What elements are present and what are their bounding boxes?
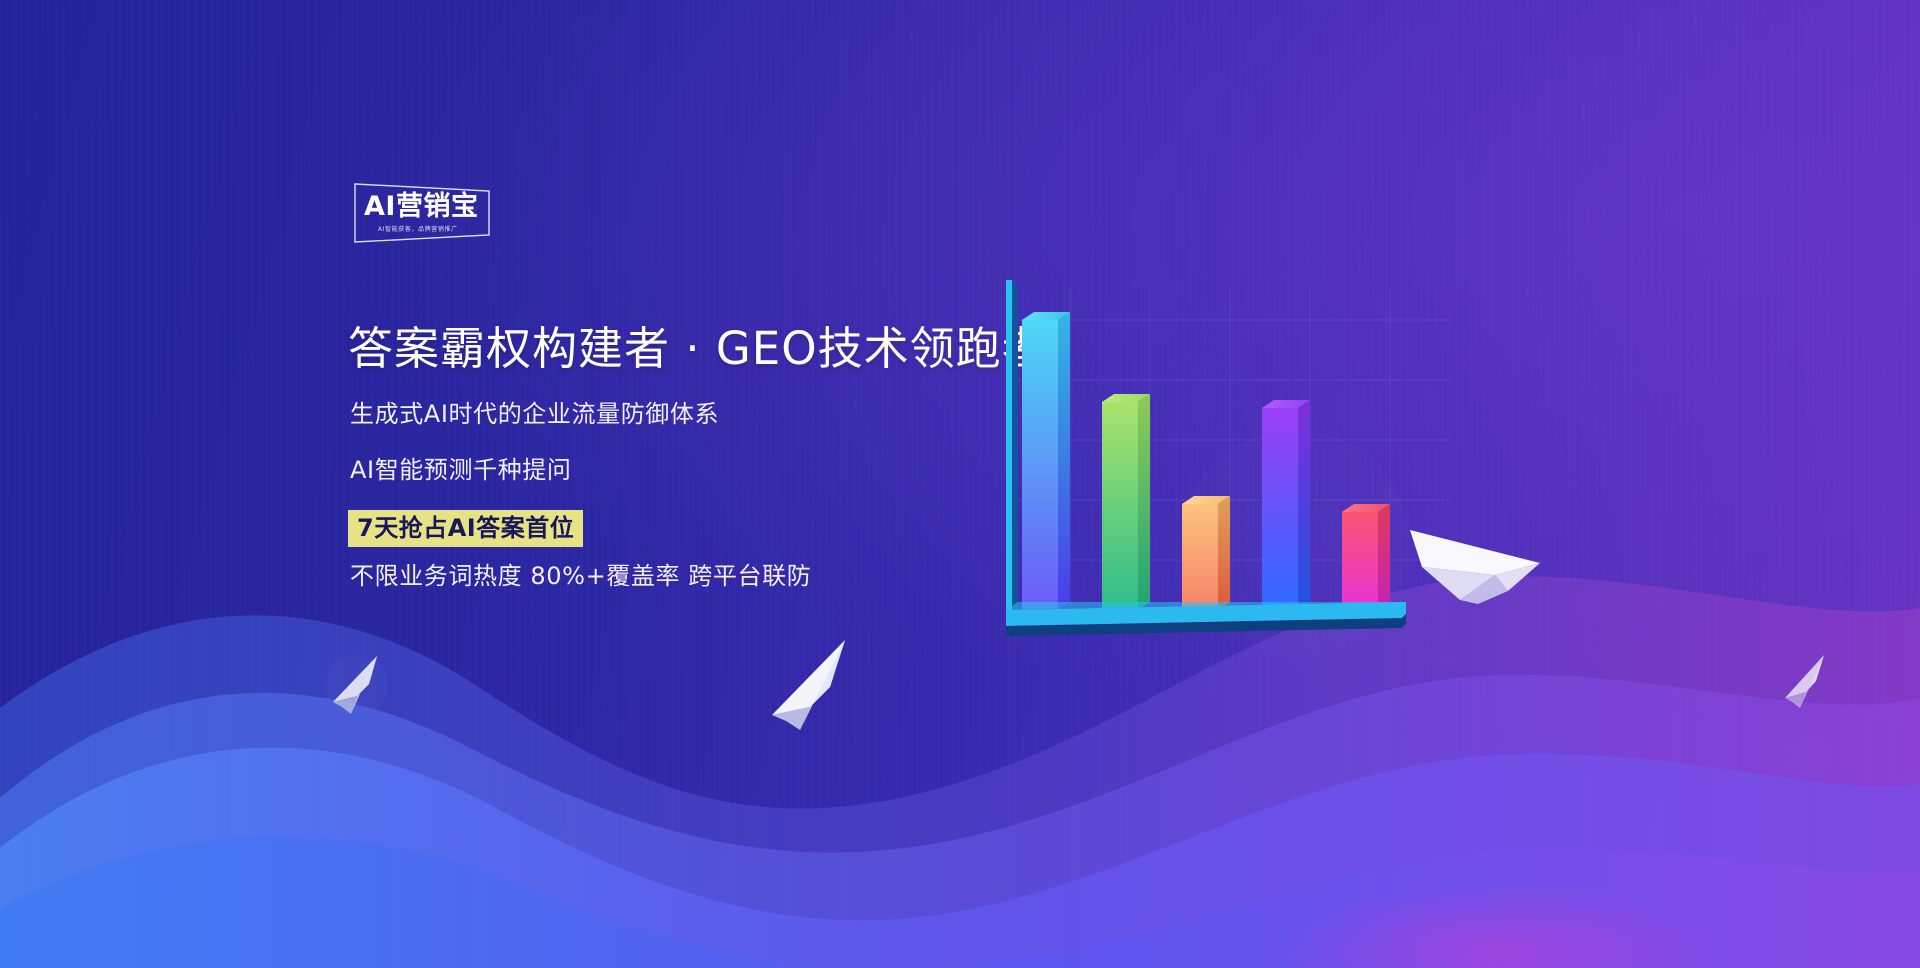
chart-bar-1 [1022, 312, 1070, 610]
bar-chart-illustration [960, 280, 1520, 680]
hero-features-line: 不限业务词热度 80%+覆盖率 跨平台联防 [350, 562, 811, 591]
chart-base-platform [1006, 602, 1406, 636]
paper-plane-small-icon [325, 650, 405, 735]
hero-highlight-badge: 7天抢占AI答案首位 [348, 510, 583, 547]
chart-y-axis [1006, 280, 1018, 618]
hero-subline-1: 生成式AI时代的企业流量防御体系 [350, 400, 719, 429]
logo-wordmark: AI营销宝 [364, 193, 478, 220]
paper-plane-right-icon [1400, 505, 1550, 620]
page-title: 答案霸权构建者 · GEO技术领跑者 [348, 322, 1048, 376]
paper-plane-upright-icon [760, 635, 895, 750]
chart-bar-2 [1102, 394, 1150, 610]
logo-tagline: AI智能获客，品牌营销推广 [378, 224, 458, 233]
chart-bar-4 [1262, 400, 1310, 610]
paper-plane-far-right-icon [1778, 650, 1848, 728]
hero-subline-2: AI智能预测千种提问 [350, 456, 572, 485]
hero-banner: AI营销宝 AI智能获客，品牌营销推广 答案霸权构建者 · GEO技术领跑者 生… [0, 0, 1920, 968]
chart-bar-3 [1182, 496, 1230, 610]
brand-logo[interactable]: AI营销宝 AI智能获客，品牌营销推广 [352, 182, 492, 244]
chart-bar-5 [1342, 504, 1390, 610]
hero-highlight-wrap: 7天抢占AI答案首位 [348, 510, 583, 547]
